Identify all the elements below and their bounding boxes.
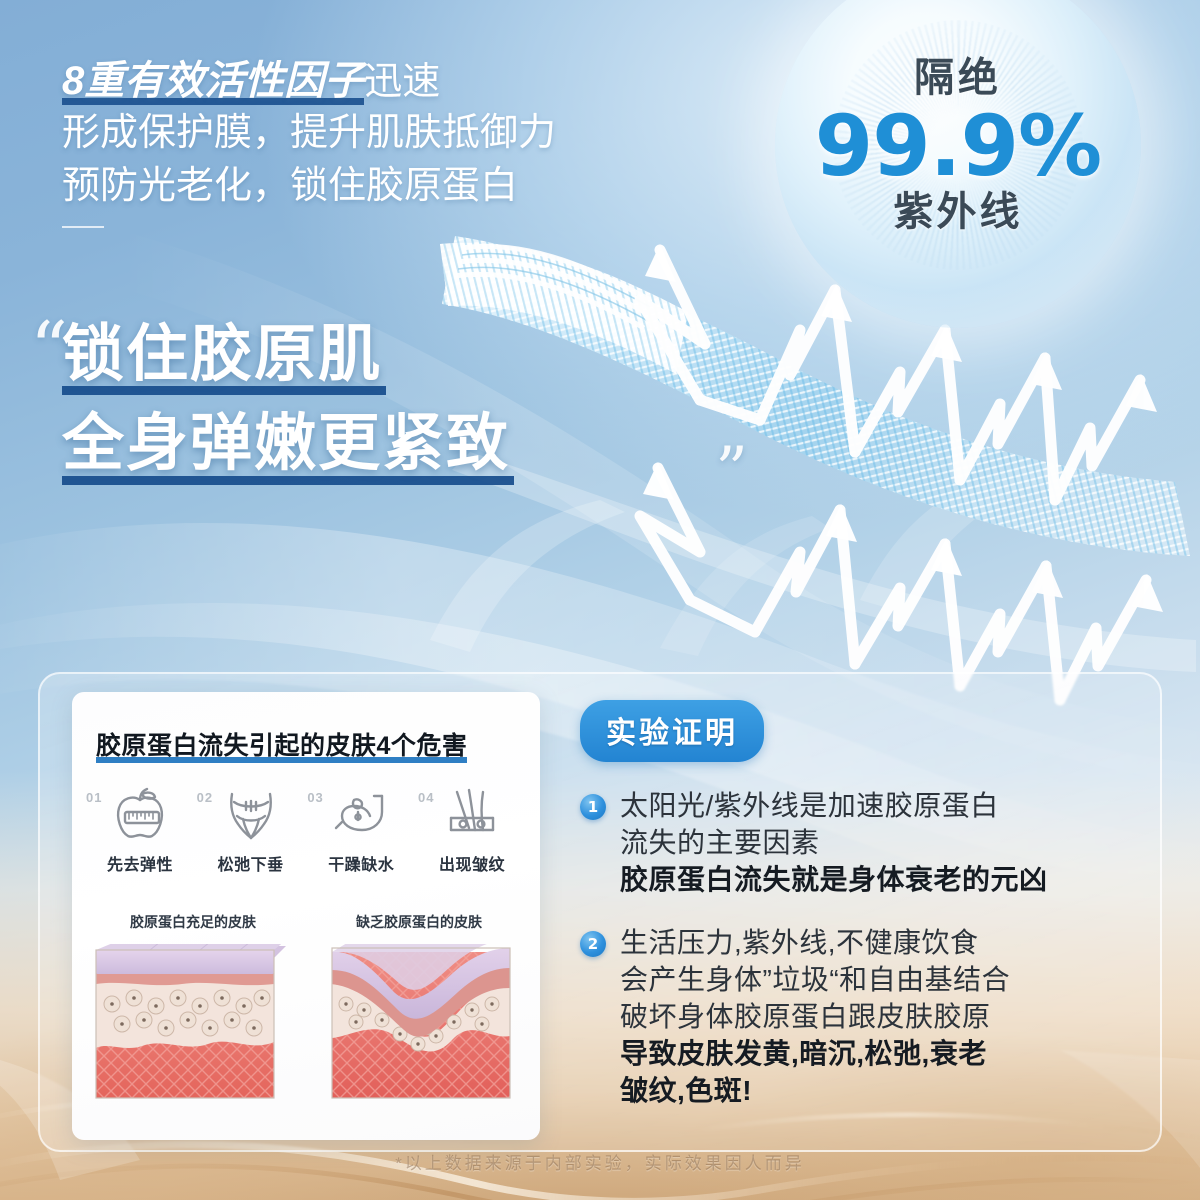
harm-label-4: 出现皱纹 xyxy=(420,851,524,875)
footer-disclaimer: *以上数据来源于内部实验，实际效果因人而异 xyxy=(0,1149,1200,1174)
quote-block: “ 锁住胶原肌 全身弹嫩更紧致 ” xyxy=(62,318,702,485)
harm-label-3: 干躁缺水 xyxy=(309,851,413,875)
experiment-proof-column: 实验证明 1 太阳光/紫外线是加速胶原蛋白 流失的主要因素 胶原蛋白流失就是身体… xyxy=(580,700,1140,1110)
skin-label-healthy: 胶原蛋白充足的皮肤 xyxy=(88,912,298,932)
harm-index-1: 01 xyxy=(86,790,102,805)
proof-line: 会产生身体”垃圾“和自由基结合 xyxy=(620,962,1140,999)
headline-line-2: 形成保护膜，提升肌肤抵御力 xyxy=(62,107,622,161)
headline-divider xyxy=(62,226,104,228)
proof-line-bold: 胶原蛋白流失就是身体衰老的元凶 xyxy=(620,862,1140,899)
proof-bullet-1: 1 太阳光/紫外线是加速胶原蛋白 流失的主要因素 胶原蛋白流失就是身体衰老的元凶 xyxy=(580,788,1140,899)
proof-line-bold: 皱纹,色斑! xyxy=(620,1073,1140,1110)
badge-top-label: 隔绝 xyxy=(815,58,1101,98)
proof-line: 太阳光/紫外线是加速胶原蛋白 xyxy=(620,788,1140,825)
proof-line: 生活压力,紫外线,不健康饮食 xyxy=(620,925,1140,962)
sagging-body-icon xyxy=(199,784,303,846)
harm-icon-row: 01 先去弹性 xyxy=(88,784,524,875)
apple-measure-icon xyxy=(88,784,192,846)
harm-label-2: 松弛下垂 xyxy=(199,851,303,875)
quote-row-2: 全身弹嫩更紧致 ” xyxy=(62,407,702,484)
headline-emphasis: 8重有效活性因子 xyxy=(62,59,364,105)
harm-index-2: 02 xyxy=(197,790,213,805)
harm-item-4: 04 出现皱纹 xyxy=(420,784,524,875)
skin-compare-labels: 胶原蛋白充足的皮肤 缺乏胶原蛋白的皮肤 xyxy=(88,912,524,932)
headline-block: 8重有效活性因子迅速 形成保护膜，提升肌肤抵御力 预防光老化，锁住胶原蛋白 xyxy=(62,56,622,228)
proof-line: 破坏身体胶原蛋白跟皮肤胶原 xyxy=(620,999,1140,1036)
harm-item-1: 01 先去弹性 xyxy=(88,784,192,875)
proof-line: 流失的主要因素 xyxy=(620,825,1140,862)
harms-card-title: 胶原蛋白流失引起的皮肤4个危害 xyxy=(96,726,467,763)
harm-index-4: 04 xyxy=(418,790,434,805)
skin-label-depleted: 缺乏胶原蛋白的皮肤 xyxy=(314,912,524,932)
headline-line-3: 预防光老化，锁住胶原蛋白 xyxy=(62,160,622,214)
headline-line-1: 8重有效活性因子迅速 xyxy=(62,56,622,107)
badge-bottom-label: 紫外线 xyxy=(815,192,1101,232)
wrinkle-lines-icon xyxy=(420,784,524,846)
quote-line-1: 锁住胶原肌 xyxy=(62,318,386,395)
harm-item-3: 03 干躁缺水 xyxy=(309,784,413,875)
harms-card: 胶原蛋白流失引起的皮肤4个危害 01 xyxy=(72,692,540,1140)
quote-open-mark: “ xyxy=(30,312,68,386)
quote-line-2: 全身弹嫩更紧致 xyxy=(62,407,514,484)
skin-diagram-healthy xyxy=(90,944,286,1114)
proof-bullet-number-2: 2 xyxy=(580,931,606,957)
headline-tail: 迅速 xyxy=(364,61,440,103)
skin-compare-figures xyxy=(90,944,522,1114)
proof-bullet-body-2: 生活压力,紫外线,不健康饮食 会产生身体”垃圾“和自由基结合 破坏身体胶原蛋白跟… xyxy=(620,925,1140,1110)
badge-value: 99.9% xyxy=(815,104,1101,188)
experiment-proof-pill: 实验证明 xyxy=(580,700,764,762)
harm-index-3: 03 xyxy=(307,790,323,805)
quote-row-1: 锁住胶原肌 xyxy=(62,318,702,395)
dry-skin-icon xyxy=(309,784,413,846)
promo-canvas: 隔绝 99.9% 紫外线 8重有效活性因子迅速 形成保护膜，提升肌肤抵御力 预防… xyxy=(0,0,1200,1200)
harm-label-1: 先去弹性 xyxy=(88,851,192,875)
proof-bullet-2: 2 生活压力,紫外线,不健康饮食 会产生身体”垃圾“和自由基结合 破坏身体胶原蛋… xyxy=(580,925,1140,1110)
proof-line-bold: 导致皮肤发黄,暗沉,松弛,衰老 xyxy=(620,1036,1140,1073)
skin-diagram-depleted xyxy=(326,944,522,1114)
proof-bullet-number-1: 1 xyxy=(580,794,606,820)
harm-item-2: 02 松弛下垂 xyxy=(199,784,303,875)
quote-close-mark: ” xyxy=(715,439,748,503)
proof-bullet-body-1: 太阳光/紫外线是加速胶原蛋白 流失的主要因素 胶原蛋白流失就是身体衰老的元凶 xyxy=(620,788,1140,899)
